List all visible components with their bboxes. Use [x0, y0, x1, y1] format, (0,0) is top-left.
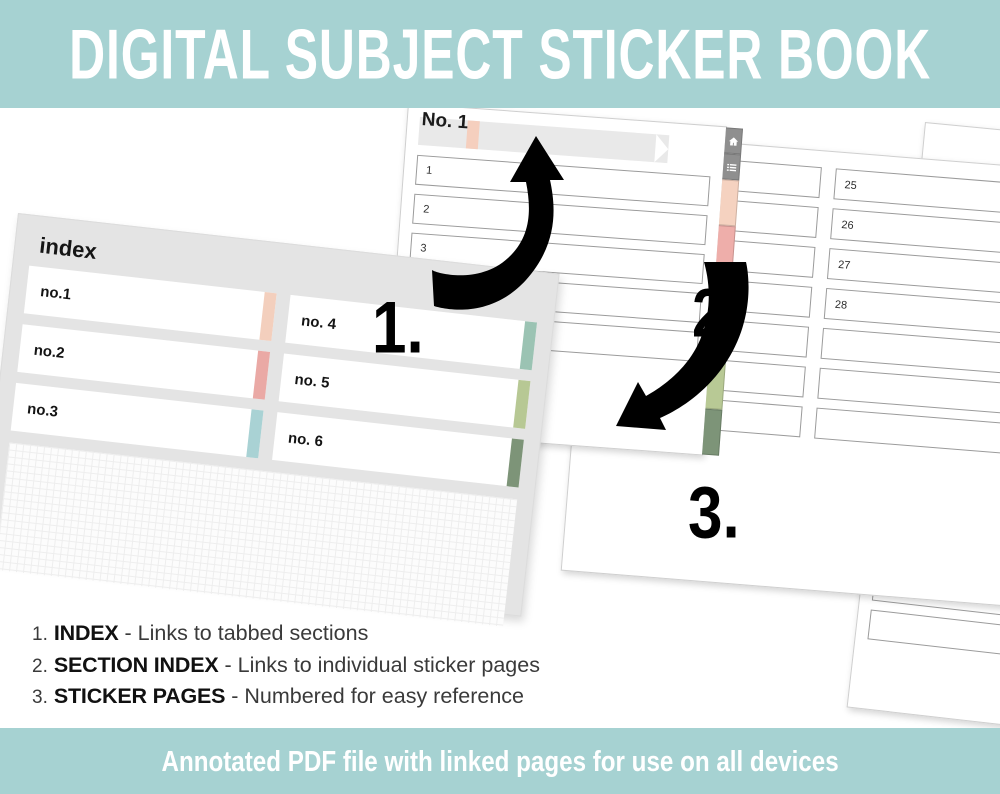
index-row-chip — [507, 438, 524, 487]
step-1-arrow — [414, 128, 614, 318]
index-row-label: no. 4 — [300, 312, 337, 333]
bottom-banner: Annotated PDF file with linked pages for… — [0, 728, 1000, 794]
legend-keyword: INDEX — [54, 621, 119, 645]
step-2-number: 2. — [692, 274, 740, 353]
legend-item-1: 1. INDEX - Links to tabbed sections — [32, 618, 540, 649]
home-icon[interactable] — [724, 127, 743, 154]
legend-desc: - Links to tabbed sections — [119, 621, 369, 645]
index-row-chip — [520, 321, 537, 370]
index-left-column: no.1 no.2 no.3 — [11, 266, 276, 459]
section-index-row[interactable]: 28 — [824, 288, 1000, 336]
legend-number: 3. — [32, 687, 48, 708]
section-index-row[interactable]: 26 — [830, 208, 1000, 256]
sticker-row[interactable] — [867, 609, 1000, 664]
index-row-chip — [259, 292, 276, 341]
section-index-row[interactable]: 27 — [827, 248, 1000, 296]
bottom-banner-text: Annotated PDF file with linked pages for… — [161, 744, 838, 779]
index-row-chip — [246, 409, 263, 458]
index-row-label: no.2 — [33, 341, 66, 361]
legend-item-2: 2. SECTION INDEX - Links to individual s… — [32, 650, 540, 681]
legend-desc: - Numbered for easy reference — [225, 684, 524, 708]
index-row-label: no.1 — [39, 283, 72, 303]
legend-number: 2. — [32, 656, 48, 677]
index-row-chip — [252, 351, 269, 400]
page-title: DIGITAL SUBJECT STICKER BOOK — [69, 13, 931, 95]
index-row-label: no. 6 — [287, 429, 324, 450]
section-index-right-column: 25 26 27 28 — [814, 168, 1000, 455]
section-index-row[interactable] — [814, 408, 1000, 456]
legend-number: 1. — [32, 624, 48, 645]
legend-desc: - Links to individual sticker pages — [219, 653, 540, 677]
top-banner: DIGITAL SUBJECT STICKER BOOK — [0, 0, 1000, 108]
legend-keyword: SECTION INDEX — [54, 653, 219, 677]
section-index-row[interactable] — [817, 368, 1000, 416]
legend-keyword: STICKER PAGES — [54, 684, 225, 708]
legend: 1. INDEX - Links to tabbed sections 2. S… — [32, 618, 540, 712]
index-row-label: no. 5 — [294, 370, 331, 391]
index-row-chip — [513, 380, 530, 429]
step-3-number: 3. — [688, 472, 740, 556]
index-row-label: no.3 — [26, 400, 59, 420]
section-index-row[interactable]: 25 — [833, 168, 1000, 216]
section-index-row[interactable] — [821, 328, 1000, 376]
legend-item-3: 3. STICKER PAGES - Numbered for easy ref… — [32, 681, 540, 712]
list-icon[interactable] — [722, 153, 741, 180]
tab-color-1[interactable] — [719, 179, 739, 226]
step-1-number: 1. — [372, 287, 424, 371]
